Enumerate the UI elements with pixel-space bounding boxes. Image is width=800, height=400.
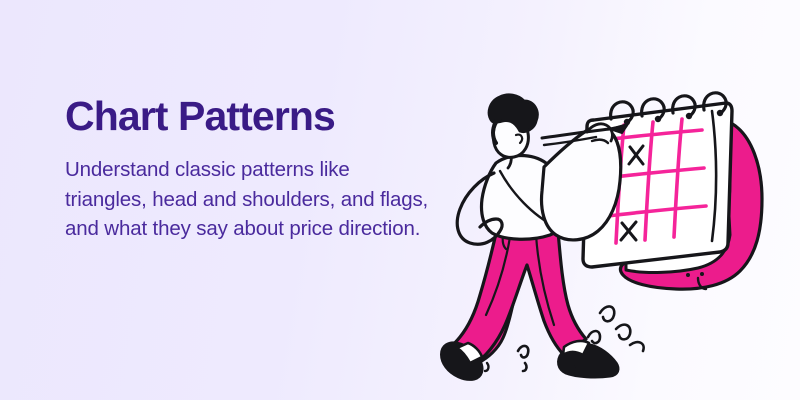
person-drawing-on-flip-chart-icon [440, 75, 800, 385]
promo-banner: Chart Patterns Understand classic patter… [0, 0, 800, 400]
illustration [440, 75, 800, 385]
text-block: Chart Patterns Understand classic patter… [65, 92, 435, 244]
page-title: Chart Patterns [65, 92, 435, 140]
page-subtitle: Understand classic patterns like triangl… [65, 140, 435, 244]
squiggle-1 [588, 331, 600, 343]
squiggle-3 [616, 325, 630, 340]
squiggle-4 [630, 342, 644, 351]
squiggle-2 [600, 306, 614, 321]
squiggle-6 [523, 363, 526, 371]
squiggle-5 [518, 346, 528, 358]
